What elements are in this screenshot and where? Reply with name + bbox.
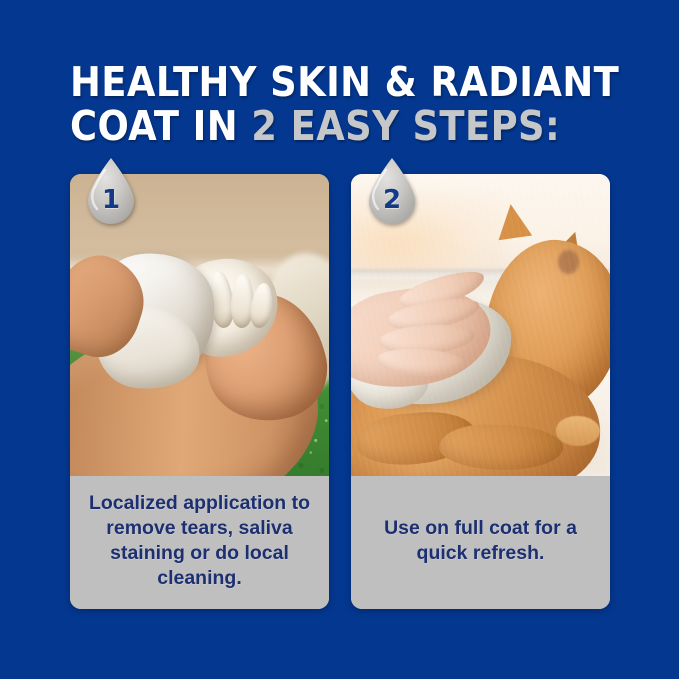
step-1-caption: Localized application to remove tears, s… (70, 476, 329, 609)
headline-line-2: COAT IN 2 EASY STEPS: (70, 106, 630, 147)
headline-line-2-gray: 2 EASY STEPS: (251, 102, 560, 150)
product-infographic-poster: HEALTHY SKIN & RADIANT COAT IN 2 EASY ST… (0, 0, 679, 679)
page-title: HEALTHY SKIN & RADIANT COAT IN 2 EASY ST… (70, 62, 630, 147)
step-2-caption-text: Use on full coat for a quick refresh. (363, 516, 598, 566)
step-card-1: Localized application to remove tears, s… (70, 174, 329, 609)
step-1-droplet-badge: 1 (84, 157, 138, 227)
step-2-caption: Use on full coat for a quick refresh. (351, 476, 610, 609)
step-1-caption-text: Localized application to remove tears, s… (82, 491, 317, 591)
headline-space (238, 102, 251, 150)
step-card-1-inner: Localized application to remove tears, s… (70, 174, 329, 609)
step-2-droplet-badge: 2 (365, 157, 419, 227)
step-card-2-inner: Use on full coat for a quick refresh. (351, 174, 610, 609)
headline-line-2-white: COAT IN (70, 102, 238, 150)
headline-line-1: HEALTHY SKIN & RADIANT (70, 62, 630, 103)
steps-container: Localized application to remove tears, s… (70, 174, 610, 609)
step-card-2: Use on full coat for a quick refresh. (351, 174, 610, 609)
